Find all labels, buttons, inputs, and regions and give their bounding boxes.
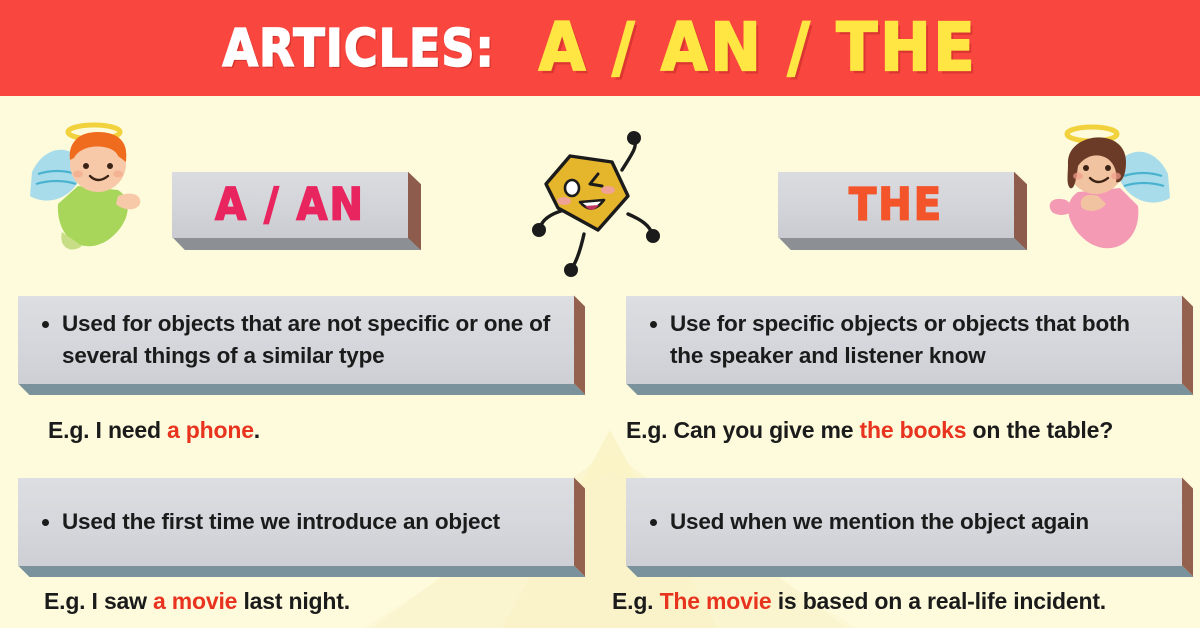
example-a-an-2: E.g. I saw a movie last night.: [44, 588, 350, 615]
example-the-1: E.g. Can you give me the books on the ta…: [626, 417, 1113, 444]
rule-item: Used when we mention the object again: [670, 506, 1089, 538]
rule-list: Used for objects that are not specific o…: [40, 308, 558, 372]
heading-plaque-the: THE: [778, 172, 1014, 238]
rule-box-the-2: Used when we mention the object again: [626, 478, 1182, 566]
example-highlight: a movie: [153, 588, 237, 614]
example-suffix: on the table?: [966, 417, 1113, 443]
star-character-icon: [524, 118, 670, 278]
example-highlight: The movie: [660, 588, 772, 614]
rule-box-a-an-2: Used the first time we introduce an obje…: [18, 478, 574, 566]
example-suffix: is based on a real-life incident.: [772, 588, 1106, 614]
example-a-an-1: E.g. I need a phone.: [48, 417, 260, 444]
example-suffix: last night.: [237, 588, 350, 614]
example-prefix: E.g.: [612, 588, 660, 614]
heading-plaque-a-an: A / AN: [172, 172, 408, 238]
rule-item: Used for objects that are not specific o…: [62, 308, 558, 372]
example-suffix: .: [254, 417, 260, 443]
heading-label-the: THE: [849, 179, 943, 231]
example-prefix: E.g. I need: [48, 417, 167, 443]
example-highlight: the books: [860, 417, 967, 443]
infographic-page: ARTICLES: A / AN / THE: [0, 0, 1200, 628]
example-prefix: E.g. Can you give me: [626, 417, 860, 443]
page-title-articles: A / AN / THE: [539, 10, 978, 87]
rule-item: Used the first time we introduce an obje…: [62, 506, 500, 538]
rule-item: Use for specific objects or objects that…: [670, 308, 1166, 372]
rule-box-the-1: Use for specific objects or objects that…: [626, 296, 1182, 384]
heading-label-a-an: A / AN: [215, 179, 365, 231]
rule-list: Used the first time we introduce an obje…: [40, 506, 500, 538]
rule-box-a-an-1: Used for objects that are not specific o…: [18, 296, 574, 384]
header-banner: ARTICLES: A / AN / THE: [0, 0, 1200, 96]
page-title: ARTICLES:: [222, 18, 494, 78]
rule-list: Use for specific objects or objects that…: [648, 308, 1166, 372]
example-the-2: E.g. The movie is based on a real-life i…: [612, 588, 1106, 615]
example-highlight: a phone: [167, 417, 254, 443]
angel-girl-icon: [1040, 112, 1180, 262]
example-prefix: E.g. I saw: [44, 588, 153, 614]
angel-boy-icon: [22, 112, 148, 262]
rule-list: Used when we mention the object again: [648, 506, 1089, 538]
